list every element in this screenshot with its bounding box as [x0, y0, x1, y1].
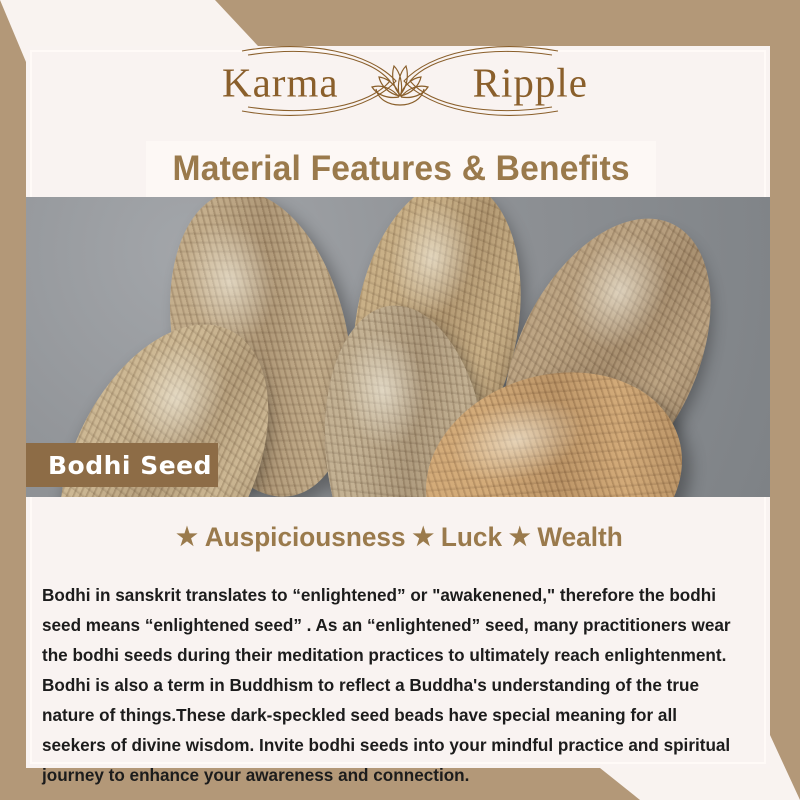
photo-caption-tag: Bodhi Seed [26, 443, 218, 487]
star-icon-2: ★ [412, 523, 434, 551]
star-icon-3: ★ [509, 523, 531, 551]
benefit-item-0: Auspiciousness [205, 522, 406, 552]
brand-logo: Karma Ripple [0, 30, 800, 135]
photo-caption-label: Bodhi Seed [48, 451, 212, 480]
brand-name-left: Karma [222, 62, 339, 103]
benefit-item-1: Luck [441, 522, 502, 552]
title-banner: Material Features & Benefits [146, 141, 656, 197]
description-paragraph: Bodhi in sanskrit translates to “enlight… [42, 580, 743, 790]
product-info-poster: Karma Ripple Material Features & Benefit… [0, 0, 800, 800]
star-icon-1: ★ [176, 523, 198, 551]
brand-name-right: Ripple [473, 62, 588, 103]
benefits-list: ★Auspiciousness★Luck★Wealth [37, 522, 759, 553]
benefit-item-2: Wealth [537, 522, 622, 552]
page-title: Material Features & Benefits [172, 149, 629, 189]
